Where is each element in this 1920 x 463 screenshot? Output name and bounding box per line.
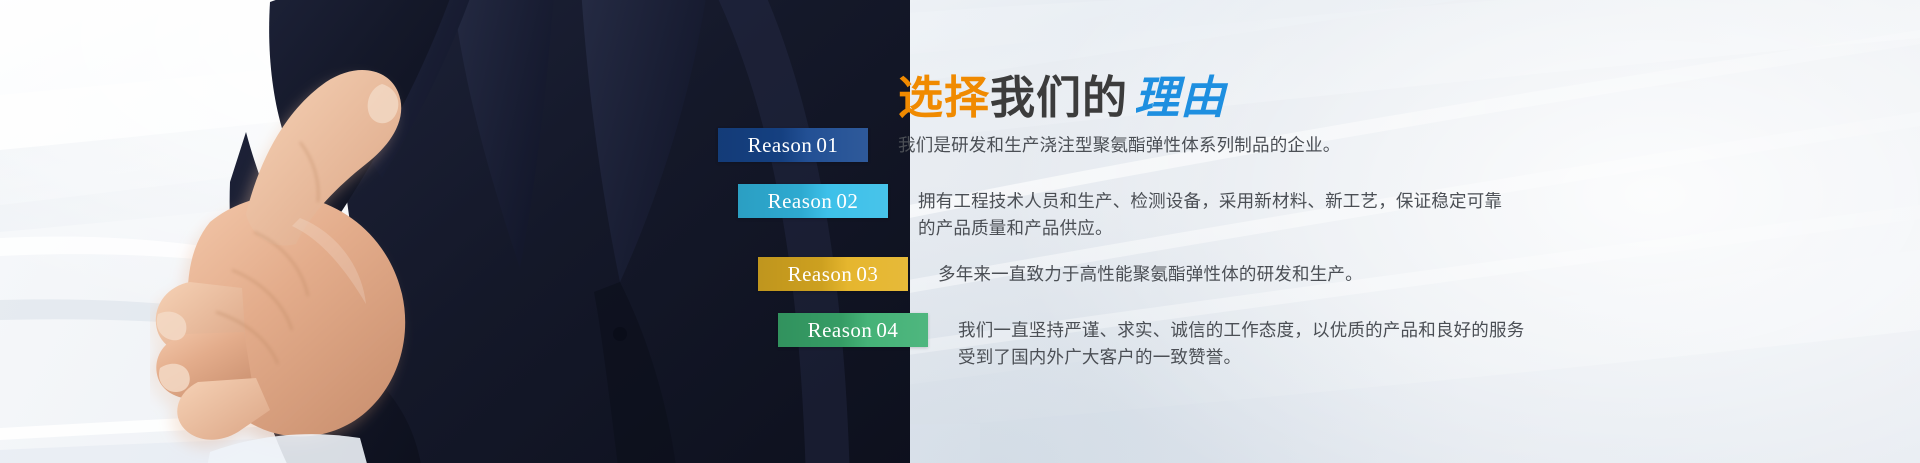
page-title: 选择我们的理由 [898, 75, 1226, 120]
reason-text-line: 的产品质量和产品供应。 [918, 216, 1818, 243]
reasons-list: Reason01 我们是研发和生产浇注型聚氨酯弹性体系列制品的企业。 Reaso… [718, 128, 1818, 379]
reason-text-line: 多年来一直致力于高性能聚氨酯弹性体的研发和生产。 [938, 262, 1818, 289]
reason-text-line: 我们是研发和生产浇注型聚氨酯弹性体系列制品的企业。 [898, 133, 1818, 160]
promo-banner: 选择我们的理由 Reason01 我们是研发和生产浇注型聚氨酯弹性体系列制品的企… [0, 0, 1920, 463]
reason-row-04: Reason04 我们一直坚持严谨、求实、诚信的工作态度，以优质的产品和良好的服… [778, 313, 1818, 372]
reason-badge-03[interactable]: Reason03 [758, 257, 908, 291]
title-segment-dark: 我们的 [990, 75, 1128, 120]
content-column: 选择我们的理由 Reason01 我们是研发和生产浇注型聚氨酯弹性体系列制品的企… [718, 0, 1818, 463]
reason-badge-label-04: Reason [808, 318, 873, 342]
title-segment-orange: 选择 [898, 75, 990, 120]
reason-description-01: 我们是研发和生产浇注型聚氨酯弹性体系列制品的企业。 [868, 128, 1818, 160]
reason-badge-label-02: Reason [768, 189, 833, 213]
reason-badge-number-03: 03 [852, 262, 878, 286]
reason-badge-04[interactable]: Reason04 [778, 313, 928, 347]
reason-badge-label-03: Reason [788, 262, 853, 286]
reason-description-02: 拥有工程技术人员和生产、检测设备，采用新材料、新工艺，保证稳定可靠 的产品质量和… [888, 184, 1818, 243]
reason-badge-number-04: 04 [872, 318, 898, 342]
reason-row-01: Reason01 我们是研发和生产浇注型聚氨酯弹性体系列制品的企业。 [718, 128, 1818, 162]
reason-text-line: 受到了国内外广大客户的一致赞誉。 [958, 345, 1818, 372]
reason-badge-01[interactable]: Reason01 [718, 128, 868, 162]
reason-description-04: 我们一直坚持严谨、求实、诚信的工作态度，以优质的产品和良好的服务 受到了国内外广… [928, 313, 1818, 372]
reason-row-02: Reason02 拥有工程技术人员和生产、检测设备，采用新材料、新工艺，保证稳定… [738, 184, 1818, 243]
reason-badge-02[interactable]: Reason02 [738, 184, 888, 218]
reason-text-line: 我们一直坚持严谨、求实、诚信的工作态度，以优质的产品和良好的服务 [958, 318, 1818, 345]
reason-badge-label-01: Reason [748, 133, 813, 157]
reason-description-03: 多年来一直致力于高性能聚氨酯弹性体的研发和生产。 [908, 257, 1818, 289]
reason-badge-number-02: 02 [832, 189, 858, 213]
reason-row-03: Reason03 多年来一直致力于高性能聚氨酯弹性体的研发和生产。 [758, 257, 1818, 291]
title-segment-blue: 理由 [1128, 75, 1226, 120]
reason-text-line: 拥有工程技术人员和生产、检测设备，采用新材料、新工艺，保证稳定可靠 [918, 189, 1818, 216]
reason-badge-number-01: 01 [812, 133, 838, 157]
